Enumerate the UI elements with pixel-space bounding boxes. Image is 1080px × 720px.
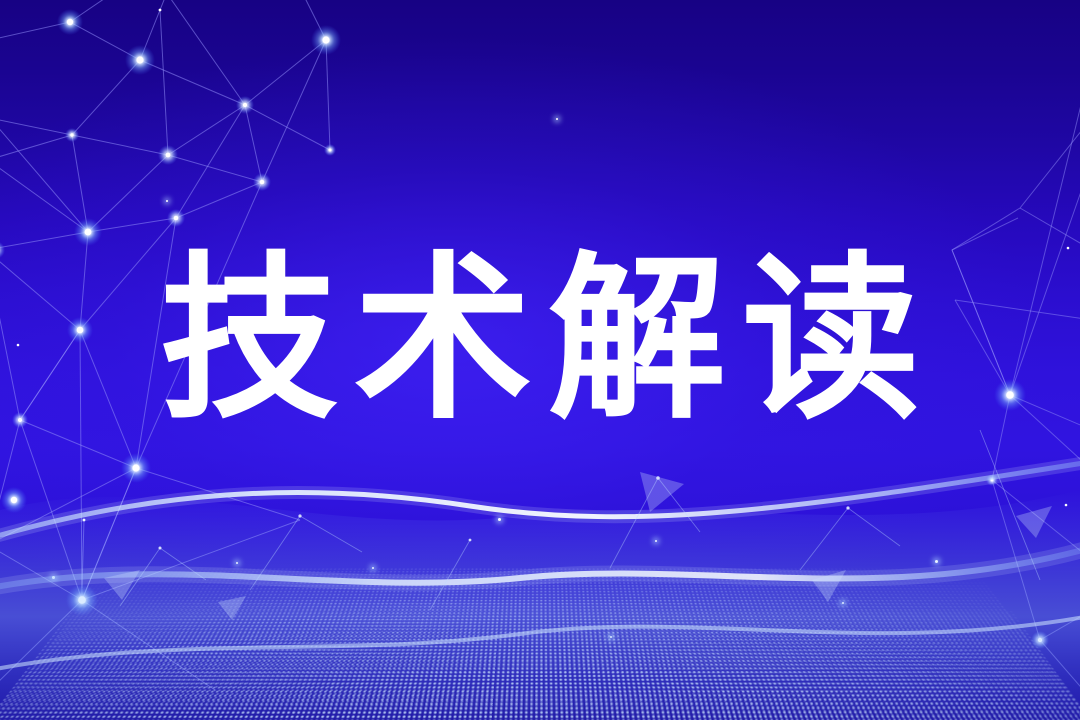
particle-dot-grid [0, 568, 1080, 720]
headline-container: 技术解读 [0, 248, 1080, 431]
banner-headline: 技术解读 [144, 248, 936, 431]
tech-banner: 技术解读 [0, 0, 1080, 720]
